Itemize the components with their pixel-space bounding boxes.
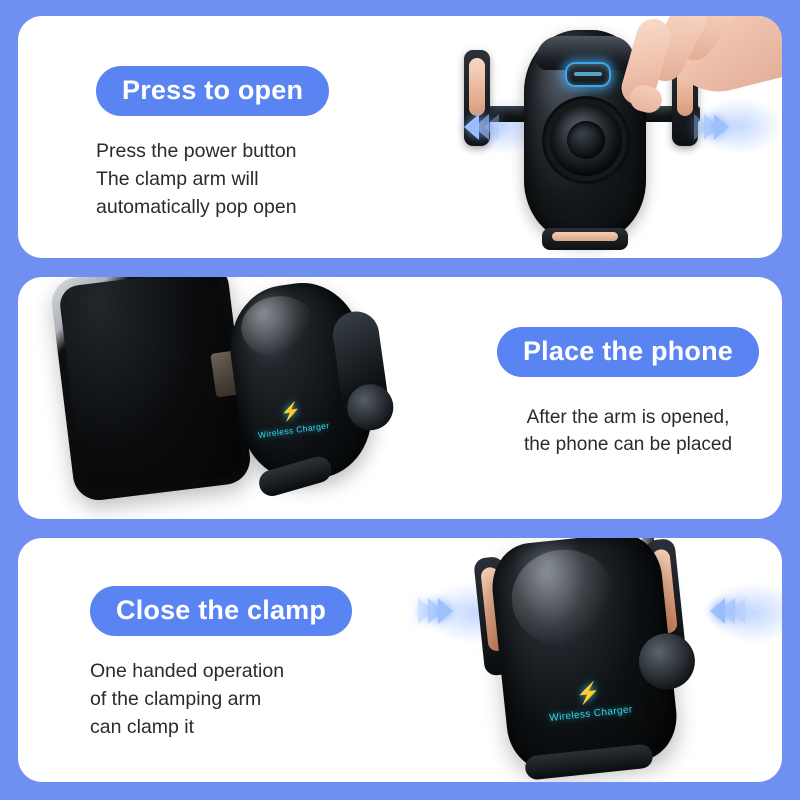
step-1-pill-wrap: Press to open	[96, 66, 426, 116]
step-2-pill-label: Place the phone	[497, 327, 759, 377]
chevron-left-icon	[484, 114, 499, 140]
step-3-body-text: One handed operation of the clamping arm…	[90, 658, 420, 741]
arrow-left-group	[418, 598, 453, 624]
chevron-left-icon	[730, 598, 745, 624]
step-1-text-block: Press to open Press the power button The…	[96, 66, 426, 221]
infographic-board: Press to open Press the power button The…	[0, 0, 800, 800]
arrow-right-group	[710, 598, 745, 624]
step-2-pill-wrap: Place the phone	[473, 327, 782, 377]
chevron-right-icon	[438, 598, 453, 624]
wireless-charger-back: ⚡ Wireless Charger	[222, 277, 390, 502]
step-3-pill-wrap: Close the clamp	[90, 586, 420, 636]
step-3-text-block: Close the clamp One handed operation of …	[90, 586, 420, 741]
clamp-pad-left	[469, 58, 485, 116]
step-panel-1: Press to open Press the power button The…	[18, 16, 782, 258]
hand-pressing-button	[603, 16, 782, 132]
arrow-left-group	[464, 114, 499, 140]
step-1-body-text: Press the power button The clamp arm wil…	[96, 138, 426, 221]
wireless-charger-front: ⚡ Wireless Charger	[466, 538, 702, 782]
step-2-body-text: After the arm is opened, the phone can b…	[473, 405, 782, 459]
step-panel-2: ⚡ Wireless Charger Place the phone After…	[18, 277, 782, 519]
step-panel-3: Close the clamp One handed operation of …	[18, 538, 782, 782]
step-1-pill-label: Press to open	[96, 66, 329, 116]
mount-front-illustration	[458, 22, 782, 258]
charger-clamping-illustration: ⚡ Wireless Charger	[418, 538, 782, 782]
mount-foot	[542, 228, 628, 250]
phone-and-charger-illustration: ⚡ Wireless Charger	[40, 277, 440, 519]
step-3-pill-label: Close the clamp	[90, 586, 352, 636]
step-2-text-block: Place the phone After the arm is opened,…	[473, 327, 782, 459]
